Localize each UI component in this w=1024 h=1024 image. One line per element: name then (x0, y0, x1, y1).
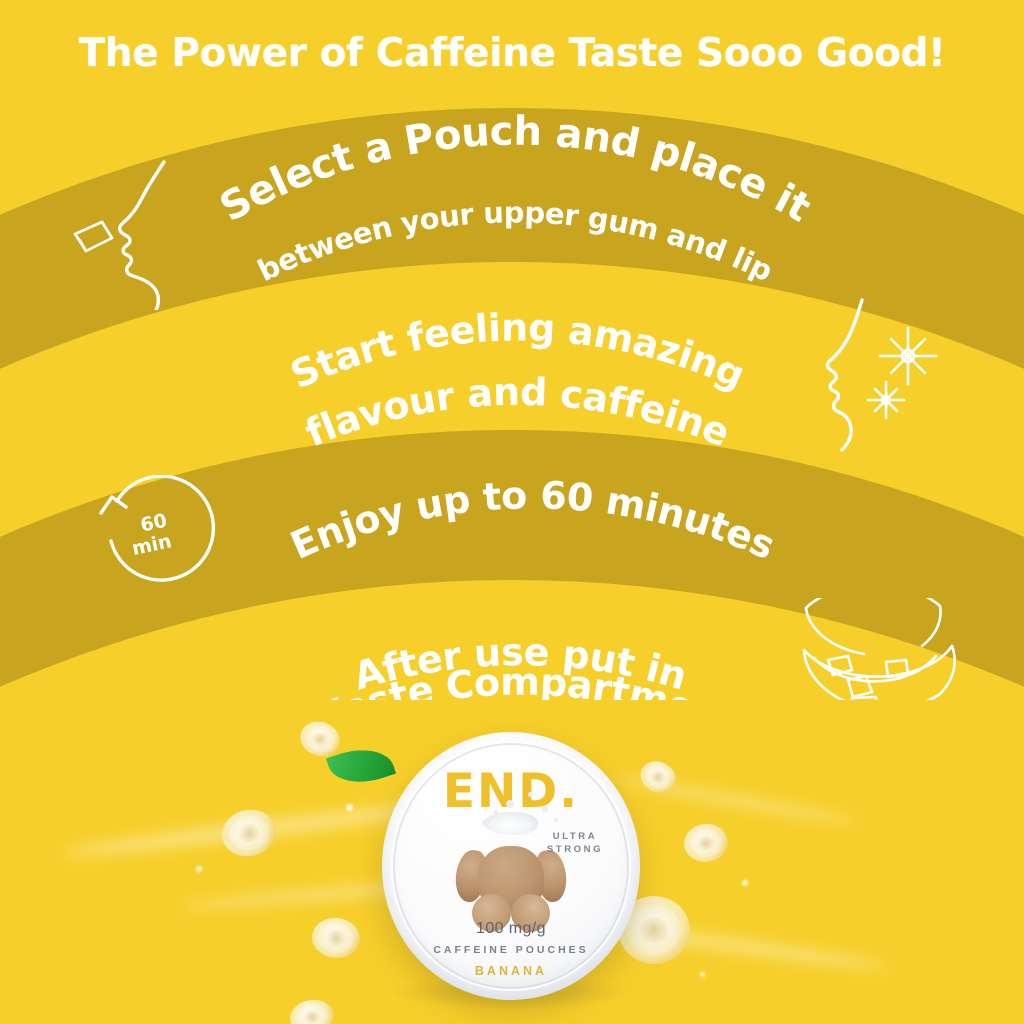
strength-line-1: ULTRA (532, 830, 618, 843)
category-label: CAFFEINE POUCHES (382, 944, 640, 956)
brand-logo: END. (382, 764, 640, 819)
powder-dot (506, 800, 514, 808)
sparkle-dot (346, 804, 353, 811)
powder-dot (528, 792, 533, 797)
powder-burst (484, 812, 538, 835)
powder-dot (542, 806, 548, 812)
sparkle-dot (700, 972, 705, 977)
timer-unit: min (130, 530, 174, 560)
page-title: The Power of Caffeine Taste Sooo Good! (0, 31, 1024, 76)
face-profile-with-pouch-icon (52, 160, 212, 310)
flavour-label: BANANA (382, 964, 640, 978)
sparkle-dot (196, 866, 202, 872)
infographic-canvas: The Power of Caffeine Taste Sooo Good! S… (0, 0, 1024, 1024)
strength-line-2: STRONG (532, 843, 618, 856)
sixty-minute-timer-icon: 60 min (95, 475, 225, 595)
face-profile-with-sparkles-icon (818, 298, 988, 458)
powder-dot (482, 820, 487, 825)
dosage-label: 100 mg/g (382, 920, 640, 938)
powder-dot (494, 810, 498, 814)
sparkle-dot (742, 880, 748, 886)
powder-dot (554, 818, 558, 822)
product-can[interactable]: END. ULTRA STRONG 100 mg/g CAFFEINE POUC… (382, 732, 640, 1000)
strength-label: ULTRA STRONG (532, 830, 618, 856)
